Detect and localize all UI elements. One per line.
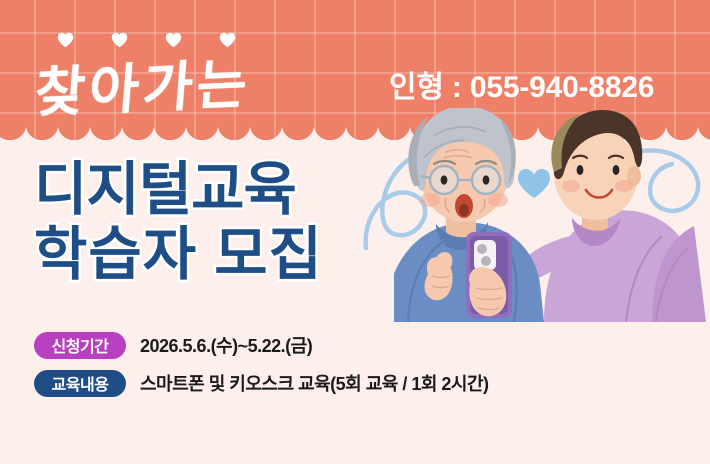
value-course-content: 스마트폰 및 키오스크 교육(5회 교육 / 1회 2시간) (140, 370, 489, 396)
info-table: 신청기간 2026.5.6.(수)~5.22.(금) 교육내용 스마트폰 및 키… (34, 329, 674, 405)
value-apply-period: 2026.5.6.(수)~5.22.(금) (140, 332, 312, 358)
main-title: 디지털교육 학습자 모집 (34, 160, 323, 284)
heart-icon (57, 32, 74, 48)
badge-course-content: 교육내용 (34, 370, 126, 397)
badge-apply-period: 신청기간 (34, 332, 126, 359)
info-row-apply-period: 신청기간 2026.5.6.(수)~5.22.(금) (34, 329, 674, 361)
info-row-course-content: 교육내용 스마트폰 및 키오스크 교육(5회 교육 / 1회 2시간) (34, 367, 674, 399)
title-line-1: 디지털교육 (34, 160, 323, 219)
illustration-elderly-and-helper (394, 108, 710, 324)
contact-phone-line: 인형 : 055-940-8826 (389, 62, 654, 106)
handwritten-heading: 찾아가는 (32, 39, 254, 127)
title-line-2: 학습자 모집 (34, 225, 323, 284)
poster-root: 찾아가는 인형 : 055-940-8826 (0, 0, 710, 464)
